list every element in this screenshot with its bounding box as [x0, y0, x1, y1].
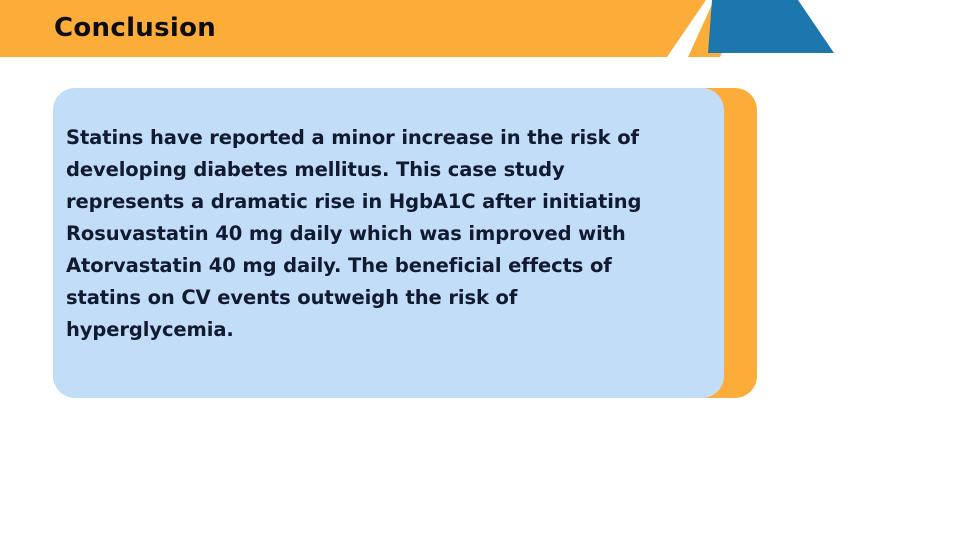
- slide-title: Conclusion: [54, 9, 216, 47]
- conclusion-body-text: Statins have reported a minor increase i…: [66, 122, 706, 346]
- header-blue-trapezoid: [708, 0, 834, 53]
- slide-canvas: Conclusion Statins have reported a minor…: [0, 0, 960, 540]
